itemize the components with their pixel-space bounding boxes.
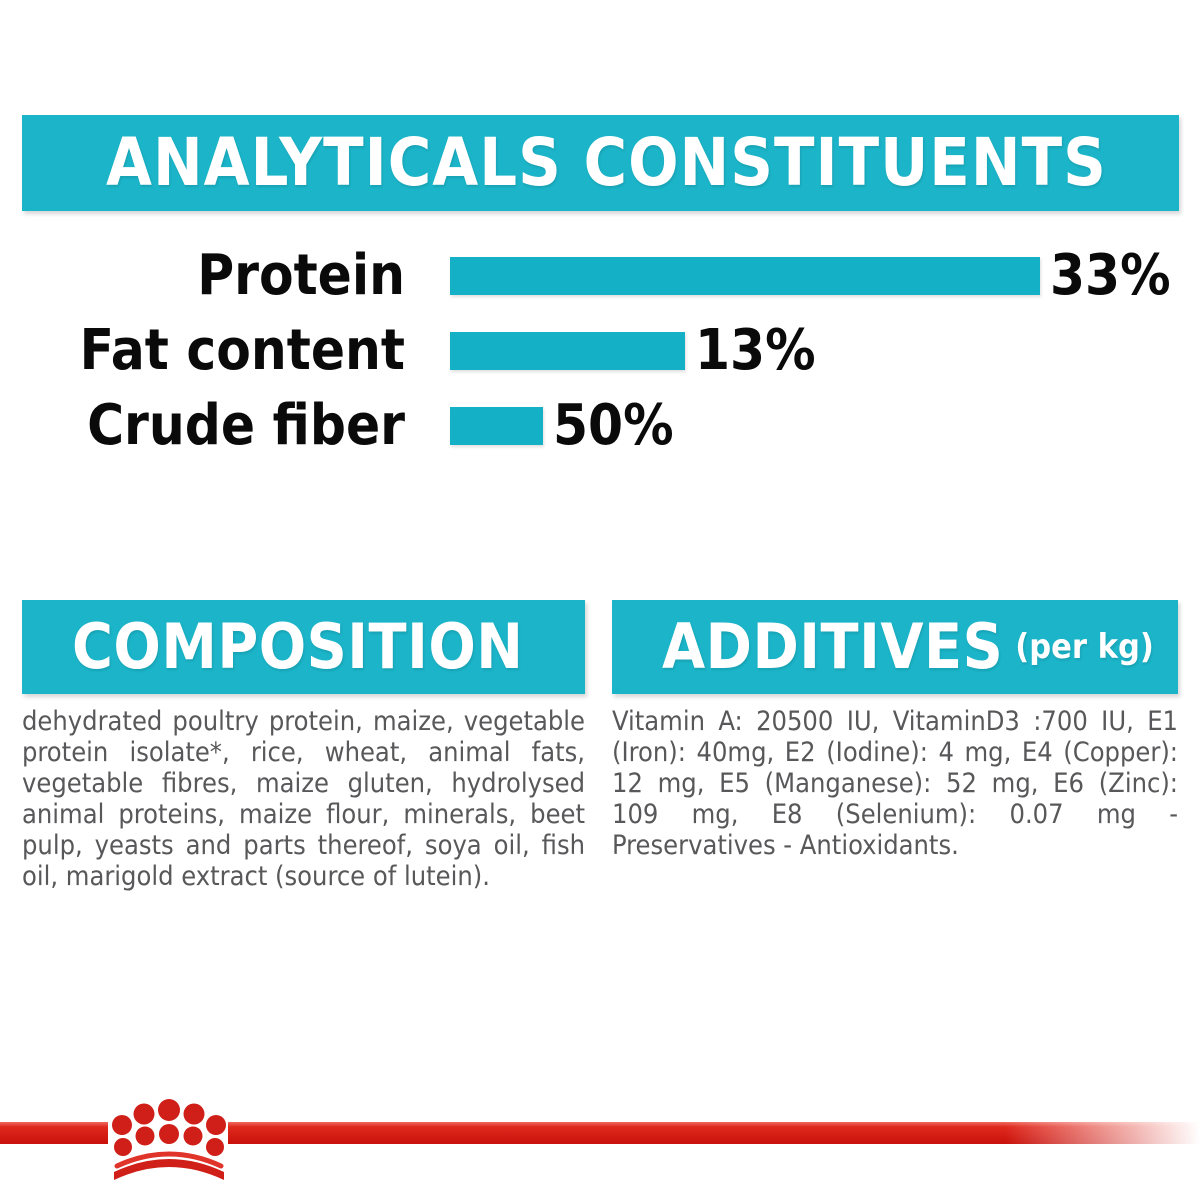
composition-heading: COMPOSITION [72,616,523,678]
chart-label-fat-content: Fat content [0,323,405,379]
additives-subheading: (per kg) [1015,630,1154,664]
chart-barwrap-crude-fiber: 50% [405,388,1200,463]
additives-panel: ADDITIVES (per kg) Vitamin A: 20500 IU, … [612,600,1178,861]
chart-barwrap-protein: 33% [405,238,1200,313]
footer-rule-right [228,1122,1200,1144]
chart-value-fat-content: 13% [695,323,816,379]
chart-value-crude-fiber: 50% [553,398,674,454]
chart-row-fat-content: Fat content 13% [0,313,1200,388]
chart-barwrap-fat-content: 13% [405,313,1200,388]
analyticals-constituents-header: ANALYTICALS CONSTITUENTS [22,115,1179,211]
royal-canin-crown-icon [108,1094,230,1180]
chart-bar-crude-fiber [450,407,543,445]
chart-value-protein: 33% [1050,248,1171,304]
composition-text: dehydrated poultry protein, maize, veget… [22,706,585,892]
additives-heading: ADDITIVES [662,616,1003,678]
composition-header: COMPOSITION [22,600,585,694]
additives-text: Vitamin A: 20500 IU, VitaminD3 :700 IU, … [612,706,1178,861]
chart-bar-fat-content [450,332,685,370]
page-title: ANALYTICALS CONSTITUENTS [22,130,1107,196]
chart-label-protein: Protein [0,248,405,304]
brand-footer [0,1112,1200,1200]
chart-row-crude-fiber: Crude fiber 50% [0,388,1200,463]
additives-header: ADDITIVES (per kg) [612,600,1178,694]
chart-label-crude-fiber: Crude fiber [0,398,405,454]
chart-row-protein: Protein 33% [0,238,1200,313]
chart-bar-protein [450,257,1040,295]
analytical-constituents-chart: Protein 33% Fat content 13% Crude fiber … [0,238,1200,463]
composition-panel: COMPOSITION dehydrated poultry protein, … [22,600,585,892]
footer-rule-left [0,1122,108,1144]
